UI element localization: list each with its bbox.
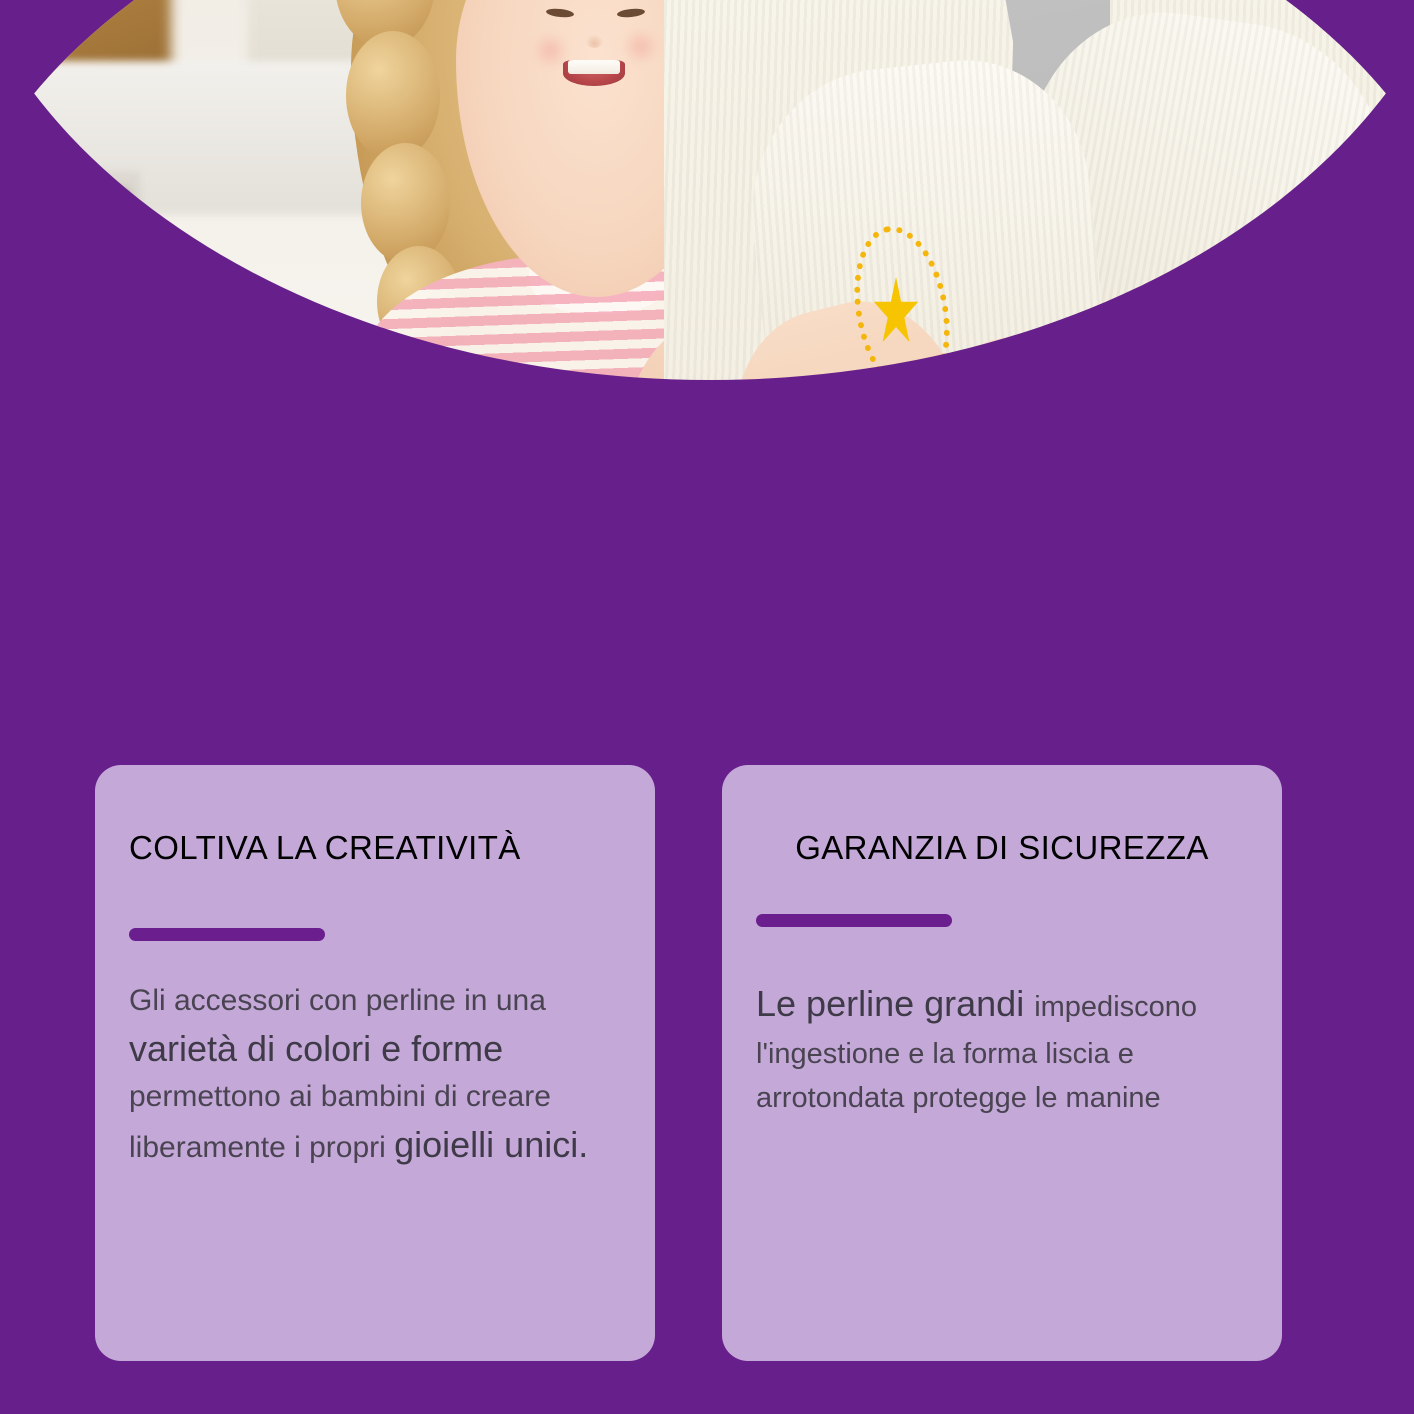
card-title: COLTIVA LA CREATIVITÀ	[129, 825, 621, 872]
card-body-segment: Le perline grandi	[756, 983, 1034, 1024]
card-body-segment: Gli accessori con perline in una	[129, 984, 546, 1017]
accent-bar	[129, 928, 325, 941]
card-title: GARANZIA DI SICUREZZA	[756, 825, 1248, 872]
feature-cards: COLTIVA LA CREATIVITÀ Gli accessori con …	[0, 0, 1414, 1414]
card-body-segment: varietà di colori e forme	[129, 1028, 503, 1069]
card-body: Le perline grandi impediscono l'ingestio…	[756, 977, 1248, 1120]
card-coltiva-la-creativita: COLTIVA LA CREATIVITÀ Gli accessori con …	[95, 765, 655, 1361]
card-garanzia-di-sicurezza: GARANZIA DI SICUREZZA Le perline grandi …	[722, 765, 1282, 1361]
card-body: Gli accessori con perline in una varietà…	[129, 979, 621, 1172]
accent-bar	[756, 914, 952, 927]
card-body-segment: gioielli unici.	[394, 1124, 588, 1165]
